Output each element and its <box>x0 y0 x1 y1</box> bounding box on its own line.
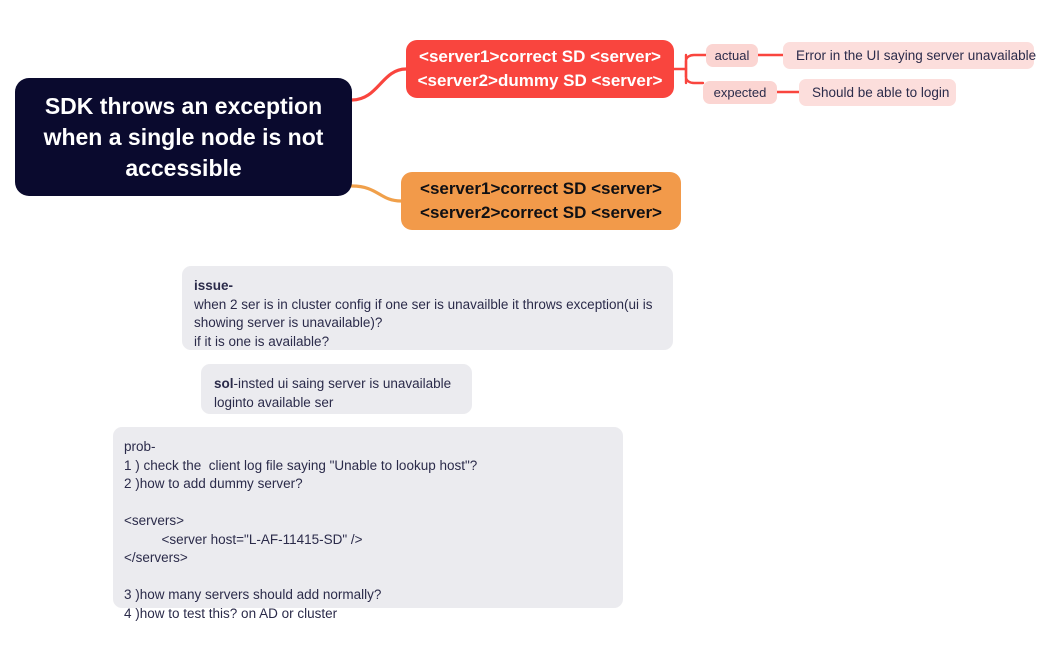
branch-node-orange-line-2: <server2>correct SD <server> <box>420 201 662 225</box>
badge-expected[interactable]: expected <box>703 81 777 104</box>
connector-root-to-orange <box>352 186 401 201</box>
note-card-prob[interactable]: prob-1 ) check the client log file sayin… <box>113 427 623 608</box>
branch-node-orange-line-1: <server1>correct SD <server> <box>420 177 662 201</box>
branch-node-red[interactable]: <server1>correct SD <server> <server2>du… <box>406 40 674 98</box>
message-actual[interactable]: Error in the UI saying server unavailabl… <box>783 42 1034 69</box>
root-node-line-3: accessible <box>125 153 241 184</box>
note-sol-body: -insted ui saing server is unavailable l… <box>214 376 451 410</box>
note-issue-heading: issue- <box>194 278 233 293</box>
note-prob-heading: prob- <box>124 439 156 454</box>
note-issue-body: when 2 ser is in cluster config if one s… <box>194 297 656 349</box>
branch-node-orange[interactable]: <server1>correct SD <server> <server2>co… <box>401 172 681 230</box>
note-prob-body: 1 ) check the client log file saying "Un… <box>124 458 477 621</box>
root-node[interactable]: SDK throws an exception when a single no… <box>15 78 352 196</box>
note-card-sol[interactable]: sol-insted ui saing server is unavailabl… <box>201 364 472 414</box>
root-node-line-2: when a single node is not <box>44 122 324 153</box>
message-expected[interactable]: Should be able to login <box>799 79 956 106</box>
branch-node-red-line-1: <server1>correct SD <server> <box>419 45 661 69</box>
branch-node-red-line-2: <server2>dummy SD <server> <box>418 69 663 93</box>
connector-root-to-red <box>352 69 406 100</box>
note-sol-heading: sol <box>214 376 234 391</box>
connector-red-bracket <box>686 55 706 83</box>
root-node-line-1: SDK throws an exception <box>45 91 322 122</box>
badge-actual[interactable]: actual <box>706 44 758 67</box>
mindmap-canvas: SDK throws an exception when a single no… <box>0 0 1049 650</box>
note-card-issue[interactable]: issue-when 2 ser is in cluster config if… <box>182 266 673 350</box>
